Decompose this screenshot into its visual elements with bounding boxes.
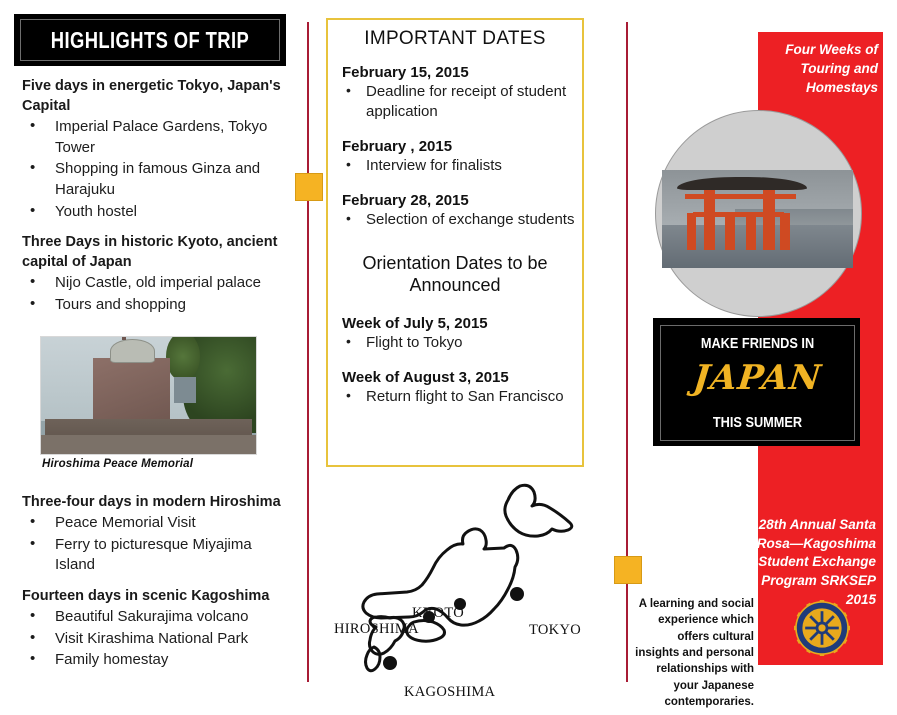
list-item: Imperial Palace Gardens, Tokyo Tower: [22, 117, 286, 158]
list-item: Selection of exchange students: [338, 210, 582, 230]
torii-post-brace-b: [725, 213, 735, 250]
torii-post-main-left: [704, 190, 715, 251]
torii-post-brace-c: [746, 213, 756, 250]
hiroshima-peace-memorial-photo: [40, 336, 257, 455]
date-heading: Week of July 5, 2015: [342, 315, 582, 332]
list-item: Beautiful Sakurajima volcano: [22, 607, 294, 628]
bullet-list-kagoshima: Beautiful Sakurajima volcano Visit Kiras…: [22, 607, 294, 671]
poster-line-2: THIS SUMMER: [675, 414, 839, 431]
photo-caption: Hiroshima Peace Memorial: [42, 458, 193, 470]
make-friends-poster: MAKE FRIENDS IN JAPAN THIS SUMMER: [653, 318, 860, 446]
spacer: [328, 122, 582, 138]
section-heading-kyoto: Three Days in historic Kyoto, ancient ca…: [22, 232, 286, 272]
list-item: Nijo Castle, old imperial palace: [22, 273, 286, 294]
map-label-kyoto: KYOTO: [412, 605, 464, 622]
important-dates-panel: IMPORTANT DATES February 15, 2015 Deadli…: [326, 18, 584, 467]
torii-gate-photo: [662, 170, 853, 268]
program-name-text: 28th Annual Santa Rosa—Kagoshima Student…: [752, 516, 880, 609]
torii-post-brace-d: [780, 213, 790, 250]
torii-post-main-right: [763, 190, 774, 251]
date-items: Return flight to San Francisco: [338, 387, 582, 407]
section-heading-hiroshima: Three-four days in modern Hiroshima: [22, 492, 294, 512]
photo-city-building: [174, 377, 196, 403]
gold-square-right: [614, 556, 642, 584]
date-entry-4: Week of July 5, 2015 Flight to Tokyo: [338, 315, 582, 353]
program-blurb: A learning and social experience which o…: [634, 596, 754, 710]
section-heading-tokyo: Five days in energetic Tokyo, Japan's Ca…: [22, 76, 286, 116]
rotary-wheel-icon: [794, 600, 850, 656]
map-dot-tokyo: [510, 587, 524, 601]
map-label-hiroshima: HIROSHIMA: [334, 621, 419, 638]
date-items: Deadline for receipt of student applicat…: [338, 82, 582, 122]
map-dot-kagoshima: [383, 656, 397, 670]
list-item: Peace Memorial Visit: [22, 513, 294, 534]
japan-map-icon: [334, 472, 606, 710]
highlights-column: HIGHLIGHTS OF TRIP Five days in energeti…: [14, 14, 286, 317]
list-item: Flight to Tokyo: [338, 333, 582, 353]
date-entry-3: February 28, 2015 Selection of exchange …: [338, 192, 582, 230]
list-item: Youth hostel: [22, 202, 286, 223]
date-entry-5: Week of August 3, 2015 Return flight to …: [338, 369, 582, 407]
date-entry-1: February 15, 2015 Deadline for receipt o…: [338, 64, 582, 122]
page-title: HIGHLIGHTS OF TRIP: [51, 27, 249, 54]
list-item: Shopping in famous Ginza and Harajuku: [22, 159, 286, 200]
highlights-banner-inner: HIGHLIGHTS OF TRIP: [20, 19, 280, 61]
tagline-text: Four Weeks of Touring and Homestays: [762, 40, 880, 97]
date-heading: February 15, 2015: [342, 64, 582, 81]
rotary-wheel-logo: [794, 600, 850, 656]
highlights-column-lower: Three-four days in modern Hiroshima Peac…: [22, 492, 294, 672]
bullet-list-kyoto: Nijo Castle, old imperial palace Tours a…: [22, 273, 286, 315]
map-label-tokyo: TOKYO: [529, 622, 581, 639]
spacer: [328, 353, 582, 369]
date-entry-2: February , 2015 Interview for finalists: [338, 138, 582, 176]
list-item: Deadline for receipt of student applicat…: [338, 82, 582, 122]
date-heading: February 28, 2015: [342, 192, 582, 209]
poster-inner-border: MAKE FRIENDS IN JAPAN THIS SUMMER: [660, 325, 855, 441]
list-item: Ferry to picturesque Miyajima Island: [22, 535, 294, 576]
section-heading-kagoshima: Fourteen days in scenic Kagoshima: [22, 586, 294, 606]
spacer: [328, 176, 582, 192]
divider-rule-left: [307, 22, 309, 682]
list-item: Tours and shopping: [22, 295, 286, 316]
list-item: Family homestay: [22, 650, 294, 671]
list-item: Return flight to San Francisco: [338, 387, 582, 407]
list-item: Interview for finalists: [338, 156, 582, 176]
date-items: Interview for finalists: [338, 156, 582, 176]
important-dates-title: IMPORTANT DATES: [328, 28, 582, 50]
bullet-list-tokyo: Imperial Palace Gardens, Tokyo Tower Sho…: [22, 117, 286, 222]
poster-japan-word: JAPAN: [659, 358, 856, 398]
photo-wall: [41, 435, 256, 454]
gold-square-left: [295, 173, 323, 201]
map-label-kagoshima: KAGOSHIMA: [404, 684, 495, 701]
date-items: Selection of exchange students: [338, 210, 582, 230]
date-heading: Week of August 3, 2015: [342, 369, 582, 386]
bullet-list-hiroshima: Peace Memorial Visit Ferry to picturesqu…: [22, 513, 294, 576]
torii-upper-beam: [685, 194, 796, 200]
orientation-announcement: Orientation Dates to be Announced: [336, 252, 574, 297]
date-heading: February , 2015: [342, 138, 582, 155]
japan-map: KYOTO HIROSHIMA TOKYO KAGOSHIMA: [334, 472, 606, 710]
date-items: Flight to Tokyo: [338, 333, 582, 353]
poster-line-1: MAKE FRIENDS IN: [675, 335, 839, 352]
highlights-banner: HIGHLIGHTS OF TRIP: [14, 14, 286, 66]
list-item: Visit Kirashima National Park: [22, 629, 294, 650]
torii-post-brace-a: [687, 213, 697, 250]
